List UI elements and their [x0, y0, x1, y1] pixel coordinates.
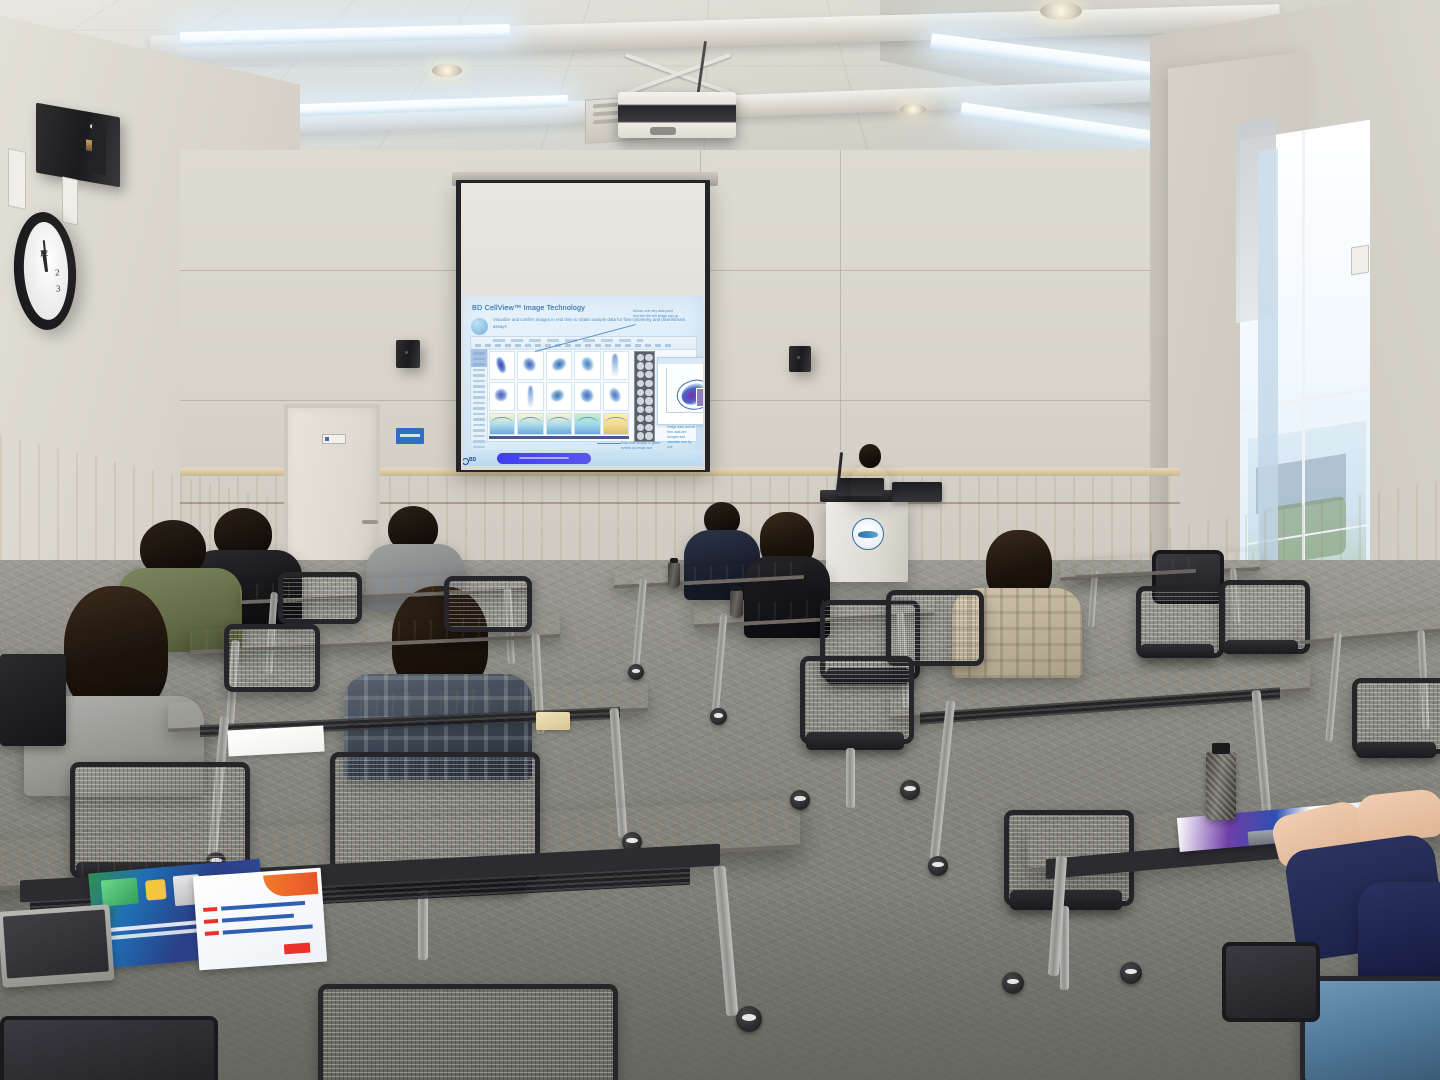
chair-seat — [1224, 640, 1298, 654]
clock-numeral-2: 2 — [55, 267, 60, 277]
kinetics-trace — [517, 413, 543, 435]
recessed-downlight — [900, 104, 926, 115]
scatter-plot — [574, 351, 600, 380]
scatter-plot — [546, 382, 572, 411]
slide-annotation-1: Mouse over any data point and see the ce… — [633, 309, 679, 319]
water-bottle[interactable] — [668, 562, 680, 588]
table-caster — [628, 664, 644, 680]
brochure-accent — [263, 872, 318, 898]
wall-panel-seam — [840, 150, 841, 450]
bd-logo — [284, 943, 311, 955]
ceiling-projector — [618, 92, 736, 138]
speaker-bracket — [92, 125, 106, 175]
kinetics-trace — [489, 413, 515, 435]
kinetics-trace — [546, 413, 572, 435]
brochure-line — [221, 901, 305, 911]
chair-caster — [1120, 962, 1142, 984]
chair-caster — [900, 780, 920, 800]
slide-title: BD CellView™ Image Technology — [472, 303, 585, 312]
presenter-torso — [850, 464, 890, 500]
popup-header — [658, 358, 703, 364]
clock-numeral-3: 3 — [56, 283, 61, 293]
backpack[interactable] — [0, 654, 66, 746]
brochure-line — [222, 914, 294, 923]
slide-footer: BD — [463, 450, 703, 466]
brochure-line — [204, 919, 218, 924]
slide-icon-badge — [471, 318, 488, 335]
chair-seat — [1140, 644, 1214, 658]
histogram-plot — [517, 382, 543, 411]
histogram-plot — [603, 351, 629, 380]
app-sidebar-selection — [471, 349, 487, 367]
chair[interactable] — [1300, 976, 1440, 1080]
recessed-downlight — [432, 64, 462, 77]
brochure-graphic — [101, 877, 139, 906]
blue-wall-sign — [396, 428, 424, 444]
flow-cytometry-plot-grid — [489, 351, 629, 411]
brochure-secondary[interactable] — [193, 868, 327, 971]
presentation-slide: BD CellView™ Image Technology Visualize … — [463, 296, 703, 466]
bottle-cap — [670, 558, 678, 563]
brochure-line — [203, 907, 217, 912]
wall-speaker-left — [36, 103, 120, 188]
tablet-device[interactable] — [0, 904, 115, 988]
table-caster — [928, 856, 948, 876]
light-switch-plate[interactable] — [8, 148, 26, 210]
scatter-plot — [489, 382, 515, 411]
chair-column — [846, 748, 855, 808]
chair[interactable] — [444, 576, 532, 632]
cell-image-gallery — [634, 351, 655, 442]
water-bottle[interactable] — [730, 590, 743, 618]
scatter-plot — [546, 351, 572, 380]
person-head — [64, 586, 168, 714]
clock-face: 12 2 3 — [21, 221, 70, 321]
chair[interactable] — [800, 656, 914, 744]
cell-image-popup — [657, 357, 703, 425]
slide-annotation-2: Image data and all flow data are merged … — [667, 425, 697, 450]
chair[interactable] — [318, 984, 618, 1080]
chair[interactable] — [224, 624, 320, 692]
chair[interactable] — [278, 572, 362, 624]
chair[interactable] — [886, 590, 984, 666]
wall-speaker-right — [789, 346, 811, 372]
water-bottle[interactable] — [1206, 752, 1236, 820]
chair[interactable] — [1222, 942, 1320, 1022]
kinetics-trace — [603, 413, 629, 435]
paper-handout[interactable] — [227, 726, 324, 757]
scatter-plot — [489, 351, 515, 380]
app-status-bar — [489, 436, 629, 439]
brochure-line — [223, 924, 313, 934]
bd-logo: BD — [469, 457, 476, 463]
app-toolbar — [471, 337, 696, 350]
scatter-plot — [574, 382, 600, 411]
brochure-line — [205, 931, 219, 936]
scatter-plot — [603, 382, 629, 411]
scatter-plot — [517, 351, 543, 380]
table-caster — [736, 1006, 762, 1032]
recessed-downlight — [1040, 2, 1082, 20]
annotation-leader-line — [597, 443, 621, 444]
lecture-hall-photo: 12 2 3 BD CellView™ Image Technology Vis… — [0, 0, 1440, 1080]
chair-seat — [1356, 742, 1436, 758]
popup-cell-image — [696, 388, 703, 407]
slide-subtitle: Visualize and confirm images in real tim… — [493, 317, 689, 330]
light-switch-plate[interactable] — [62, 176, 78, 225]
university-emblem — [852, 518, 884, 550]
app-button-row — [475, 344, 675, 348]
chair-column — [418, 890, 428, 960]
slide-footer-pill — [497, 453, 591, 464]
chair[interactable] — [0, 1016, 218, 1080]
projector-lens — [650, 127, 676, 135]
kinetics-trace — [574, 413, 600, 435]
bottle-cap — [1212, 743, 1230, 754]
door-room-plate — [322, 434, 346, 444]
table-caster — [710, 708, 727, 725]
kinetics-trace-row — [489, 413, 629, 435]
wall-speaker-center — [396, 340, 420, 368]
slide-software-screenshot: Mouse over any data point and see the ce… — [470, 336, 697, 442]
bottle-cap — [732, 586, 741, 591]
presenter — [850, 444, 890, 498]
brochure-graphic — [145, 879, 167, 901]
second-laptop[interactable] — [892, 482, 942, 502]
light-switch-plate[interactable] — [1351, 245, 1369, 276]
small-object[interactable] — [536, 712, 570, 730]
chair-caster — [1002, 972, 1024, 994]
chair-seat — [806, 732, 904, 750]
